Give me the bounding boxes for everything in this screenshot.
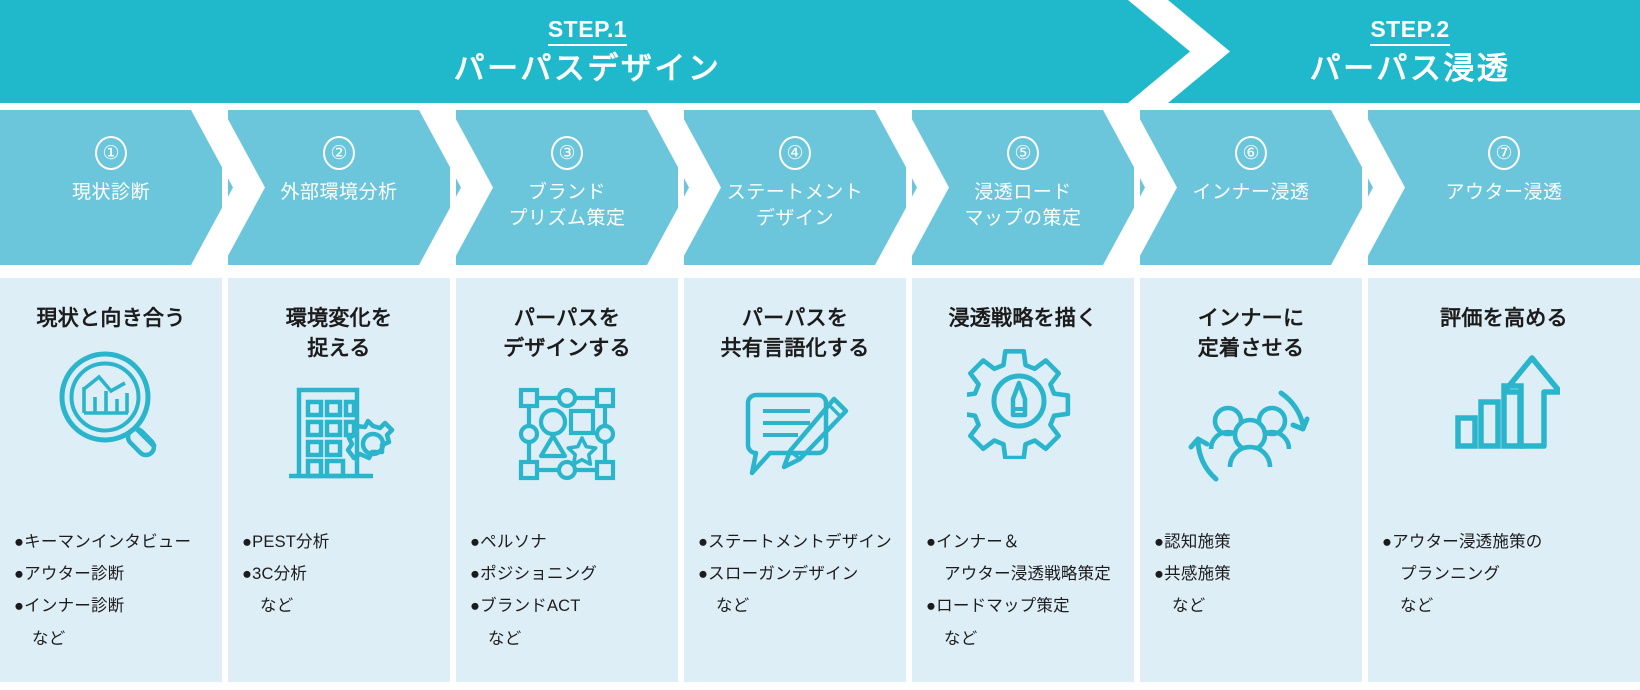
process-step-5-label: 浸透ロード マップの策定 (964, 180, 1081, 231)
detail-column-3-heading: パーパスを デザインする (470, 304, 664, 365)
step-banner-section-1: STEP.1 パーパスデザイン (0, 0, 1175, 103)
list-item: ●ポジショニング (470, 558, 668, 590)
list-item: ●インナー＆ アウター浸透戦略策定 (926, 526, 1124, 590)
step-2-title: パーパス浸透 (1310, 53, 1511, 86)
list-item-tail: など (14, 623, 212, 655)
process-step-2[interactable]: ② 外部環境分析 (228, 110, 450, 265)
list-item: ●インナー診断 (14, 590, 212, 622)
process-step-6-label: インナー浸透 (1192, 180, 1309, 206)
detail-column-3-bullets: ●ペルソナ ●ポジショニング ●ブランドACT など (470, 526, 668, 655)
list-item-tail: など (242, 590, 440, 622)
list-item: ●3C分析 (242, 558, 440, 590)
detail-columns: 現状と向き合う ●キーマンインタビュー ●アウター診断 ●インナー診断 など (0, 278, 1640, 682)
process-step-2-number: ② (323, 136, 355, 170)
step-banner-section-2: STEP.2 パーパス浸透 (1180, 0, 1640, 103)
process-step-1-number: ① (95, 136, 127, 170)
list-item: ●ステートメントデザイン (698, 526, 896, 558)
detail-column-6-heading: インナーに 定着させる (1154, 304, 1348, 365)
detail-column-5-bullets: ●インナー＆ アウター浸透戦略策定 ●ロードマップ策定 など (926, 526, 1124, 655)
process-step-4[interactable]: ④ ステートメント デザイン (684, 110, 906, 265)
step-1-title: パーパスデザイン (454, 53, 722, 86)
list-item: ●キーマンインタビュー (14, 526, 212, 558)
process-step-5[interactable]: ⑤ 浸透ロード マップの策定 (912, 110, 1134, 265)
magnifier-chart-icon (14, 344, 208, 462)
process-step-4-label: ステートメント デザイン (727, 180, 864, 231)
process-step-3-number: ③ (551, 136, 583, 170)
detail-column-7: 評価を高める ●アウター浸透施策の プランニング など (1368, 278, 1640, 682)
detail-column-2-heading: 環境変化を 捉える (242, 304, 436, 365)
process-step-7[interactable]: ⑦ アウター浸透 (1368, 110, 1640, 265)
process-step-7-number: ⑦ (1488, 136, 1520, 170)
list-item: ●PEST分析 (242, 526, 440, 558)
detail-column-7-heading: 評価を高める (1382, 304, 1626, 334)
design-shapes-icon (470, 375, 664, 493)
list-item: ●ロードマップ策定 (926, 590, 1124, 622)
gear-pen-icon (926, 344, 1120, 462)
process-step-3[interactable]: ③ ブランド プリズム策定 (456, 110, 678, 265)
process-steps-row: ① 現状診断 ② 外部環境分析 ③ ブランド プリズム策定 ④ ステートメント … (0, 110, 1640, 265)
detail-column-2-bullets: ●PEST分析 ●3C分析 など (242, 526, 440, 623)
process-step-6-number: ⑥ (1235, 136, 1267, 170)
detail-column-3: パーパスを デザインする (456, 278, 678, 682)
growth-arrow-icon (1382, 344, 1626, 462)
process-step-5-number: ⑤ (1007, 136, 1039, 170)
list-item-tail: など (698, 590, 896, 622)
list-item-tail: など (470, 623, 668, 655)
process-step-1[interactable]: ① 現状診断 (0, 110, 222, 265)
list-item: ●ペルソナ (470, 526, 668, 558)
list-item: ●認知施策 (1154, 526, 1352, 558)
list-item: ●アウター診断 (14, 558, 212, 590)
list-item-tail: など (926, 623, 1124, 655)
detail-column-4: パーパスを 共有言語化する ●ステートメントデザイン ●スローガンデザイン など (684, 278, 906, 682)
purpose-process-diagram: STEP.1 パーパスデザイン STEP.2 パーパス浸透 ① 現状診断 ② 外… (0, 0, 1640, 690)
detail-column-4-heading: パーパスを 共有言語化する (698, 304, 892, 365)
people-cycle-icon (1154, 375, 1348, 493)
detail-column-1: 現状と向き合う ●キーマンインタビュー ●アウター診断 ●インナー診断 など (0, 278, 222, 682)
speech-pencil-icon (698, 375, 892, 493)
list-item: ●スローガンデザイン (698, 558, 896, 590)
process-step-7-label: アウター浸透 (1445, 180, 1562, 206)
process-step-6[interactable]: ⑥ インナー浸透 (1140, 110, 1362, 265)
detail-column-2: 環境変化を 捉える ●PEST分析 ●3C分析 など (228, 278, 450, 682)
step-banner: STEP.1 パーパスデザイン STEP.2 パーパス浸透 (0, 0, 1640, 103)
process-step-4-number: ④ (779, 136, 811, 170)
step-2-kicker: STEP.2 (1370, 17, 1449, 46)
list-item: ●アウター浸透施策の プランニング (1382, 526, 1630, 590)
detail-column-7-bullets: ●アウター浸透施策の プランニング など (1382, 526, 1630, 623)
building-gear-icon (242, 375, 436, 493)
list-item-tail: など (1382, 590, 1630, 622)
detail-column-6-bullets: ●認知施策 ●共感施策 など (1154, 526, 1352, 623)
process-step-2-label: 外部環境分析 (280, 180, 397, 206)
detail-column-1-heading: 現状と向き合う (14, 304, 208, 334)
detail-column-1-bullets: ●キーマンインタビュー ●アウター診断 ●インナー診断 など (14, 526, 212, 655)
detail-column-6: インナーに 定着させる ●認知施策 ●共感施策 など (1140, 278, 1362, 682)
detail-column-5-heading: 浸透戦略を描く (926, 304, 1120, 334)
step-1-kicker: STEP.1 (548, 17, 627, 46)
process-step-3-label: ブランド プリズム策定 (508, 180, 625, 231)
list-item: ●ブランドACT (470, 590, 668, 622)
detail-column-5: 浸透戦略を描く ●インナー＆ アウター浸透戦略策定 ●ロードマップ策定 など (912, 278, 1134, 682)
list-item-tail: など (1154, 590, 1352, 622)
detail-column-4-bullets: ●ステートメントデザイン ●スローガンデザイン など (698, 526, 896, 623)
list-item: ●共感施策 (1154, 558, 1352, 590)
process-step-1-label: 現状診断 (72, 180, 150, 206)
